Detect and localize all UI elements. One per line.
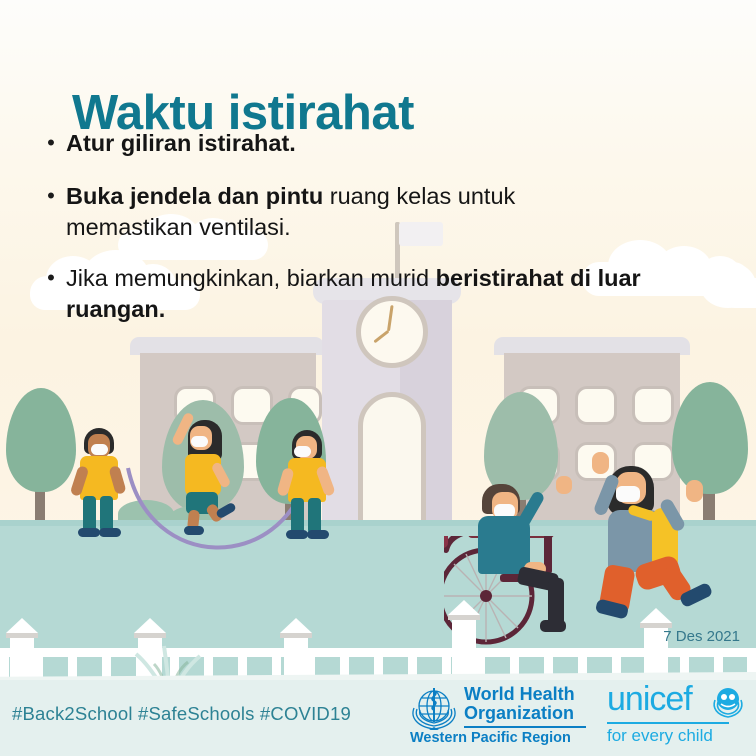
bullet-bold-lead: Atur giliran istirahat.	[66, 130, 296, 156]
list-item: • Buka jendela dan pintu ruang kelas unt…	[36, 181, 696, 243]
date-label: 7 Des 2021	[663, 628, 740, 645]
bullet-marker: •	[36, 128, 66, 159]
poster-root: Waktu istirahat • Atur giliran istirahat…	[0, 0, 756, 756]
bullet-marker: •	[36, 181, 66, 243]
who-name-line2: Organization	[464, 704, 575, 723]
unicef-wordmark: unicef	[607, 682, 692, 716]
who-divider	[464, 726, 586, 728]
list-item: • Jika memungkinkan, biarkan murid beris…	[36, 263, 696, 325]
who-logo: World Health Organization Western Pacifi…	[408, 686, 588, 748]
tree	[6, 388, 76, 492]
list-item-text: Buka jendela dan pintu ruang kelas untuk…	[66, 181, 586, 243]
list-item-text: Atur giliran istirahat.	[66, 128, 296, 159]
unicef-emblem-icon	[711, 684, 745, 718]
list-item-text: Jika memungkinkan, biarkan murid beristi…	[66, 263, 694, 325]
unicef-logo: unicef for every child	[607, 686, 756, 748]
bullet-rest: Jika memungkinkan, biarkan murid	[66, 265, 436, 291]
bullet-list: • Atur giliran istirahat. • Buka jendela…	[36, 128, 696, 339]
bullet-marker: •	[36, 263, 66, 325]
unicef-tagline: for every child	[607, 726, 713, 746]
window	[632, 386, 674, 425]
hashtags: #Back2School #SafeSchools #COVID19	[12, 703, 351, 725]
unicef-divider	[607, 722, 729, 724]
who-name-line1: World Health	[464, 685, 575, 704]
list-item: • Atur giliran istirahat.	[36, 128, 696, 159]
tree	[672, 382, 748, 494]
who-name: World Health Organization	[464, 685, 575, 723]
who-region: Western Pacific Region	[410, 730, 571, 746]
who-emblem-icon	[408, 686, 460, 730]
school-entrance-door	[358, 392, 426, 538]
bullet-bold-lead: Buka jendela dan pintu	[66, 183, 323, 209]
window	[575, 386, 617, 425]
